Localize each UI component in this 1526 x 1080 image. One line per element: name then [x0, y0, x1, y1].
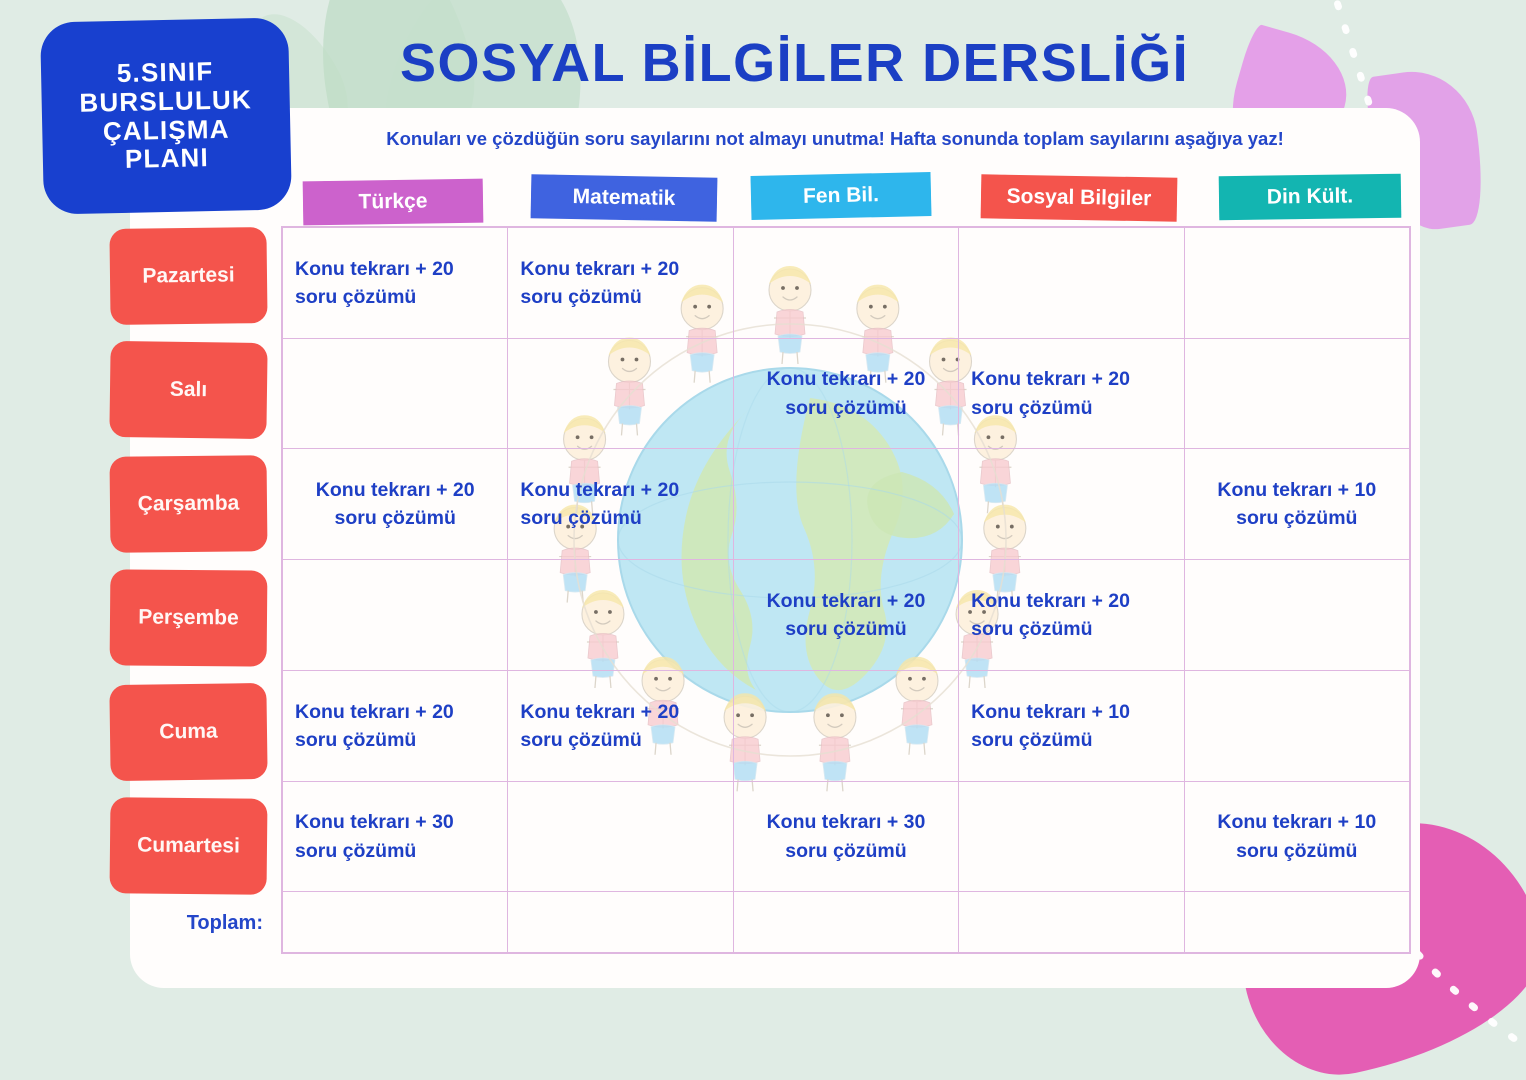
- cell-cuma-fen[interactable]: [733, 670, 958, 781]
- study-plan-grid: Konu tekrarı + 20 soru çözümü Konu tekra…: [282, 227, 1410, 953]
- cell-text: Konu tekrarı + 20 soru çözümü: [520, 476, 720, 533]
- cell-persembe-matematik[interactable]: [508, 560, 733, 671]
- day-label: Perşembe: [138, 606, 239, 631]
- badge-line-1: 5.SINIF: [117, 58, 214, 88]
- cell-pazartesi-matematik[interactable]: Konu tekrarı + 20 soru çözümü: [508, 228, 733, 339]
- day-pill-pazartesi[interactable]: Pazartesi: [109, 227, 267, 325]
- day-label: Cumartesi: [137, 833, 240, 858]
- cell-cuma-sosyal[interactable]: Konu tekrarı + 10 soru çözümü: [959, 670, 1184, 781]
- cell-cuma-matematik[interactable]: Konu tekrarı + 20 soru çözümü: [508, 670, 733, 781]
- cell-text: Konu tekrarı + 20 soru çözümü: [746, 587, 946, 644]
- cell-text: Konu tekrarı + 10 soru çözümü: [1197, 476, 1397, 533]
- column-tab-sosyal-bilgiler[interactable]: Sosyal Bilgiler: [981, 174, 1178, 221]
- column-tab-matematik[interactable]: Matematik: [531, 174, 718, 222]
- day-label: Cuma: [159, 720, 218, 745]
- cell-text: Konu tekrarı + 10 soru çözümü: [1197, 808, 1397, 865]
- cell-persembe-din[interactable]: [1184, 560, 1409, 671]
- day-pill-carsamba[interactable]: Çarşamba: [110, 455, 268, 553]
- column-tab-label: Matematik: [572, 185, 675, 211]
- cell-carsamba-matematik[interactable]: Konu tekrarı + 20 soru çözümü: [508, 449, 733, 560]
- cell-pazartesi-din[interactable]: [1184, 228, 1409, 339]
- cell-pazartesi-turkce[interactable]: Konu tekrarı + 20 soru çözümü: [283, 228, 508, 339]
- cell-text: Konu tekrarı + 20 soru çözümü: [971, 587, 1171, 644]
- column-tab-label: Sosyal Bilgiler: [1006, 185, 1151, 212]
- badge-line-2: BURSLULUK: [79, 86, 252, 117]
- day-pill-cumartesi[interactable]: Cumartesi: [110, 797, 268, 895]
- cell-total-sosyal[interactable]: [959, 892, 1184, 953]
- table-row-total: [283, 892, 1410, 953]
- column-tab-fen-bil[interactable]: Fen Bil.: [751, 172, 932, 220]
- day-labels-column: Pazartesi Salı Çarşamba Perşembe Cuma Cu…: [110, 228, 270, 935]
- cell-persembe-turkce[interactable]: [283, 560, 508, 671]
- cell-total-matematik[interactable]: [508, 892, 733, 953]
- badge-line-4: PLANI: [125, 144, 210, 174]
- cell-text: Konu tekrarı + 20 soru çözümü: [520, 698, 720, 755]
- cell-sali-fen[interactable]: Konu tekrarı + 20 soru çözümü: [733, 338, 958, 449]
- cell-sali-sosyal[interactable]: Konu tekrarı + 20 soru çözümü: [959, 338, 1184, 449]
- column-tab-label: Türkçe: [358, 189, 427, 214]
- cell-text: Konu tekrarı + 30 soru çözümü: [295, 808, 495, 865]
- cell-cuma-turkce[interactable]: Konu tekrarı + 20 soru çözümü: [283, 670, 508, 781]
- cell-pazartesi-sosyal[interactable]: [959, 228, 1184, 339]
- cell-text: Konu tekrarı + 20 soru çözümü: [746, 365, 946, 422]
- table-row: Konu tekrarı + 20 soru çözümü Konu tekra…: [283, 670, 1410, 781]
- day-pill-cuma[interactable]: Cuma: [109, 683, 267, 781]
- cell-cumartesi-sosyal[interactable]: [959, 781, 1184, 892]
- study-plan-table: Konu tekrarı + 20 soru çözümü Konu tekra…: [281, 226, 1411, 954]
- day-pill-persembe[interactable]: Perşembe: [110, 569, 268, 666]
- table-row: Konu tekrarı + 20 soru çözümü Konu tekra…: [283, 338, 1410, 449]
- column-header-tabs: Türkçe Matematik Fen Bil. Sosyal Bilgile…: [281, 176, 1411, 228]
- cell-text: Konu tekrarı + 20 soru çözümü: [520, 255, 720, 312]
- cell-cumartesi-matematik[interactable]: [508, 781, 733, 892]
- cell-persembe-sosyal[interactable]: Konu tekrarı + 20 soru çözümü: [959, 560, 1184, 671]
- column-tab-din-kult[interactable]: Din Kült.: [1219, 174, 1402, 221]
- cell-cumartesi-turkce[interactable]: Konu tekrarı + 30 soru çözümü: [283, 781, 508, 892]
- cell-text: Konu tekrarı + 20 soru çözümü: [295, 476, 495, 533]
- day-label: Çarşamba: [138, 491, 240, 516]
- column-tab-label: Fen Bil.: [803, 183, 879, 209]
- page-subtitle: Konuları ve çözdüğün soru sayılarını not…: [300, 128, 1370, 150]
- cell-cuma-din[interactable]: [1184, 670, 1409, 781]
- day-label: Salı: [170, 378, 208, 403]
- cell-carsamba-fen[interactable]: [733, 449, 958, 560]
- cell-total-turkce[interactable]: [283, 892, 508, 953]
- table-row: Konu tekrarı + 30 soru çözümü Konu tekra…: [283, 781, 1410, 892]
- table-row: Konu tekrarı + 20 soru çözümü Konu tekra…: [283, 560, 1410, 671]
- cell-carsamba-din[interactable]: Konu tekrarı + 10 soru çözümü: [1184, 449, 1409, 560]
- cell-total-din[interactable]: [1184, 892, 1409, 953]
- table-row: Konu tekrarı + 20 soru çözümü Konu tekra…: [283, 228, 1410, 339]
- column-tab-label: Din Kült.: [1267, 184, 1354, 209]
- cell-text: Konu tekrarı + 20 soru çözümü: [295, 255, 495, 312]
- cell-carsamba-sosyal[interactable]: [959, 449, 1184, 560]
- cell-cumartesi-fen[interactable]: Konu tekrarı + 30 soru çözümü: [733, 781, 958, 892]
- cell-sali-turkce[interactable]: [283, 338, 508, 449]
- cell-carsamba-turkce[interactable]: Konu tekrarı + 20 soru çözümü: [283, 449, 508, 560]
- cell-text: Konu tekrarı + 20 soru çözümü: [971, 365, 1171, 422]
- column-tab-turkce[interactable]: Türkçe: [303, 179, 484, 226]
- cell-sali-din[interactable]: [1184, 338, 1409, 449]
- table-row: Konu tekrarı + 20 soru çözümü Konu tekra…: [283, 449, 1410, 560]
- cell-sali-matematik[interactable]: [508, 338, 733, 449]
- cell-total-fen[interactable]: [733, 892, 958, 953]
- page-title: SOSYAL BİLGİLER DERSLİĞİ: [400, 32, 1120, 94]
- day-label: Pazartesi: [142, 263, 235, 288]
- day-pill-sali[interactable]: Salı: [109, 341, 267, 439]
- cell-text: Konu tekrarı + 10 soru çözümü: [971, 698, 1171, 755]
- cell-persembe-fen[interactable]: Konu tekrarı + 20 soru çözümü: [733, 560, 958, 671]
- total-row-label: Toplam:: [110, 912, 267, 935]
- cell-text: Konu tekrarı + 30 soru çözümü: [746, 808, 946, 865]
- badge-line-3: ÇALIŞMA: [103, 115, 230, 145]
- grade-badge: 5.SINIF BURSLULUK ÇALIŞMA PLANI: [40, 17, 292, 214]
- cell-pazartesi-fen[interactable]: [733, 228, 958, 339]
- cell-text: Konu tekrarı + 20 soru çözümü: [295, 698, 495, 755]
- cell-cumartesi-din[interactable]: Konu tekrarı + 10 soru çözümü: [1184, 781, 1409, 892]
